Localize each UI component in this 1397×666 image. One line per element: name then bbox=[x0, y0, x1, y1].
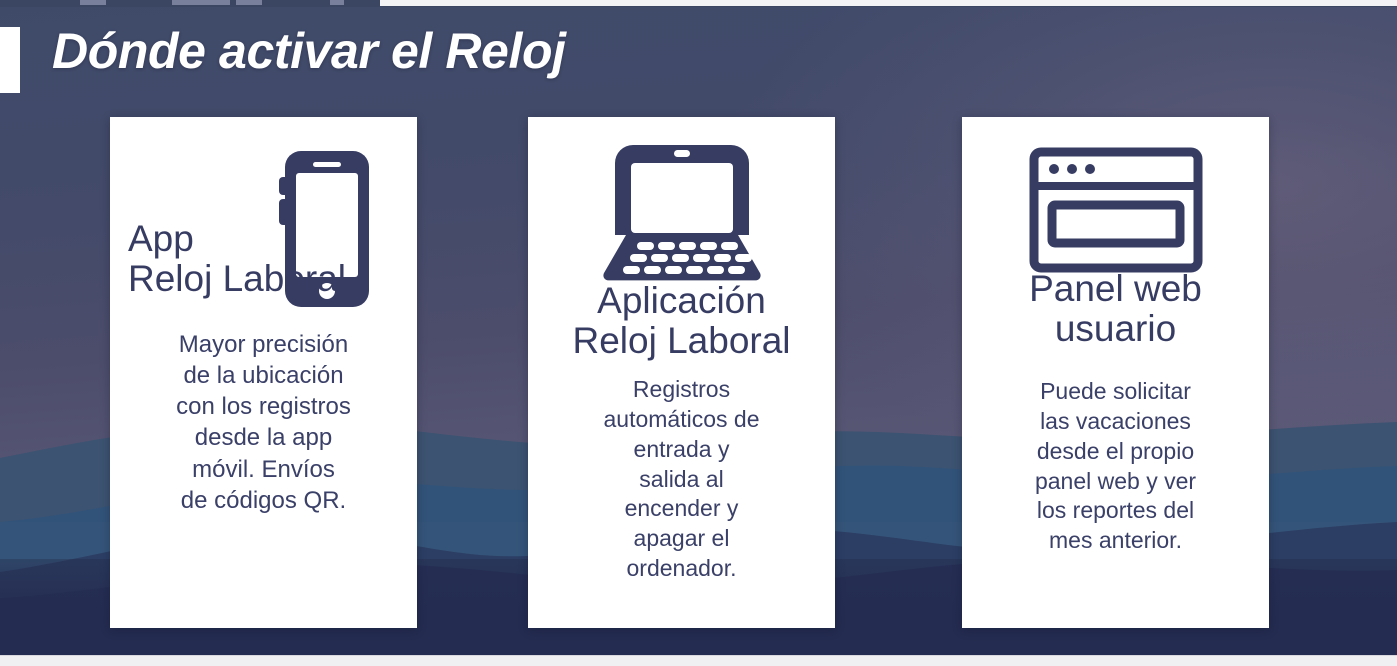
card-icon-wrapper bbox=[528, 117, 835, 277]
chrome-chip bbox=[330, 0, 344, 5]
footer-strip bbox=[0, 655, 1397, 666]
page-title: Dónde activar el Reloj bbox=[52, 22, 566, 80]
card-title: Aplicación Reloj Laboral bbox=[528, 281, 835, 361]
chrome-chip bbox=[172, 0, 230, 5]
chrome-chip bbox=[80, 0, 106, 5]
chrome-chip bbox=[380, 0, 1397, 6]
window-chrome-sliver bbox=[0, 0, 1397, 7]
card-app-reloj-laboral[interactable]: App Reloj Laboral Mayor precisión de la … bbox=[110, 117, 417, 628]
card-title: Panel web usuario bbox=[962, 269, 1269, 349]
card-aplicacion-reloj-laboral[interactable]: Aplicación Reloj Laboral Registros autom… bbox=[528, 117, 835, 628]
laptop-icon bbox=[599, 141, 765, 281]
browser-window-icon bbox=[1029, 147, 1203, 273]
cards-row: App Reloj Laboral Mayor precisión de la … bbox=[0, 0, 1397, 666]
presentation-slide: Dónde activar el Reloj bbox=[0, 0, 1397, 666]
card-panel-web-usuario[interactable]: Panel web usuario Puede solicitar las va… bbox=[962, 117, 1269, 628]
card-body-text: Mayor precisión de la ubicación con los … bbox=[110, 329, 417, 516]
title-accent-bar bbox=[0, 27, 20, 93]
card-body-text: Puede solicitar las vacaciones desde el … bbox=[962, 377, 1269, 556]
card-icon-wrapper bbox=[962, 117, 1269, 267]
card-title: App Reloj Laboral bbox=[110, 219, 417, 299]
card-body-text: Registros automáticos de entrada y salid… bbox=[528, 375, 835, 584]
chrome-chip bbox=[236, 0, 262, 5]
